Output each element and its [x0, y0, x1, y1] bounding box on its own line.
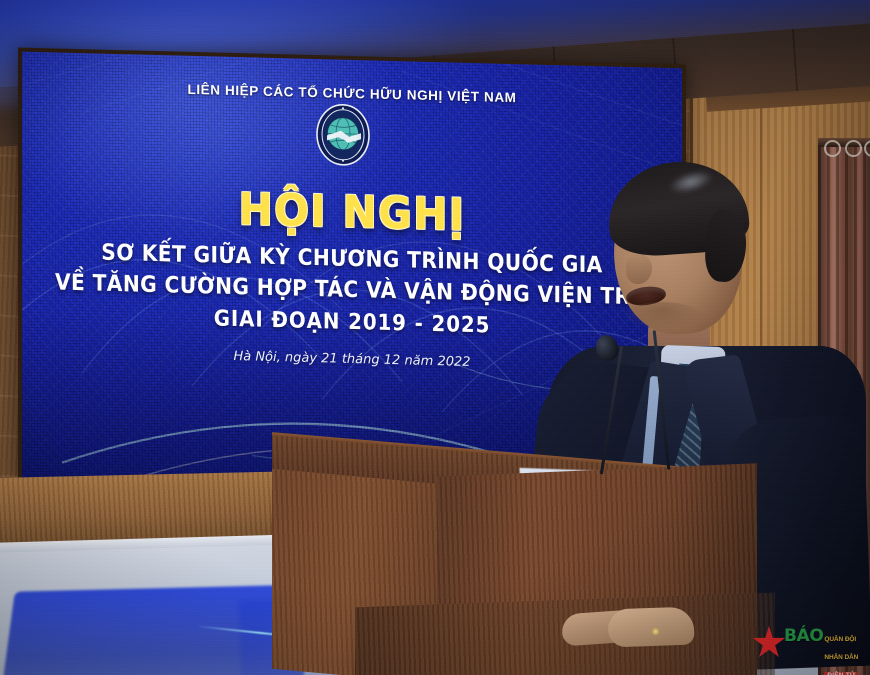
conference-photo: LIÊN HIỆP CÁC TỔ CHỨC HỮU NGHỊ VIỆT NAM … [0, 0, 870, 675]
red-star-icon [752, 626, 786, 660]
watermark-brand: BÁO [784, 628, 823, 645]
watermark-text: BÁOQUÂN ĐỘINHÂN DÂNĐIỆN TỬ [784, 628, 864, 675]
watermark-lines: QUÂN ĐỘINHÂN DÂNĐIỆN TỬ [824, 628, 858, 675]
speaker-chin-shadow [622, 302, 702, 330]
watermark-line2: NHÂN DÂN [824, 654, 858, 661]
vufo-globe-handshake-emblem [315, 103, 371, 166]
podium-base [355, 593, 775, 675]
watermark: BÁOQUÂN ĐỘINHÂN DÂNĐIỆN TỬ [752, 618, 864, 668]
watermark-line1: QUÂN ĐỘI [824, 636, 856, 643]
